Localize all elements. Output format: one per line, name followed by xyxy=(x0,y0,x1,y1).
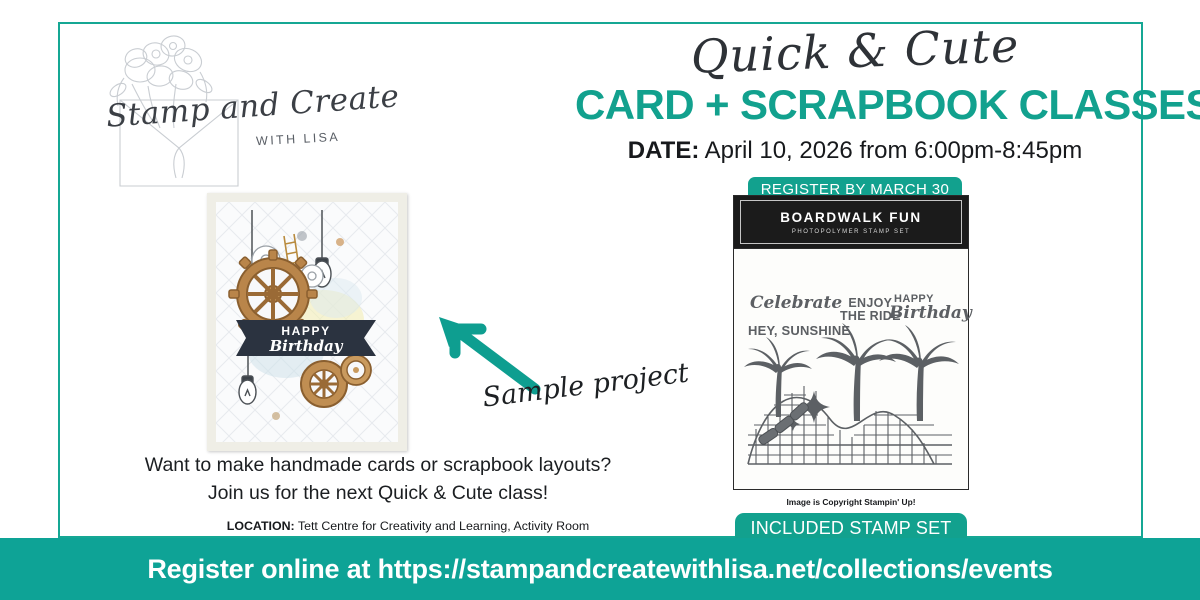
stamp-set-copyright: Image is Copyright Stampin' Up! xyxy=(733,497,969,507)
brand-logo: Stamp and Create WITH LISA xyxy=(88,28,348,188)
date-value: April 10, 2026 from 6:00pm-8:45pm xyxy=(699,137,1082,164)
poster-canvas: Stamp and Create WITH LISA Quick & Cute … xyxy=(0,0,1200,600)
page-title: CARD + SCRAPBOOK CLASSES xyxy=(575,84,1135,126)
stamp-set-graphics xyxy=(734,249,968,490)
blurb-line-1: Want to make handmade cards or scrapbook… xyxy=(58,452,698,480)
stamp-set-subtitle: PHOTOPOLYMER STAMP SET xyxy=(792,229,910,235)
location-line: LOCATION: Tett Centre for Creativity and… xyxy=(58,519,758,533)
svg-text:Birthday: Birthday xyxy=(268,337,343,355)
header-block: Quick & Cute CARD + SCRAPBOOK CLASSES DA… xyxy=(575,28,1135,203)
stamp-set-body: Celebrate HEY, SUNSHINE ENJOY THE RIDE H… xyxy=(734,249,968,490)
date-label: DATE: xyxy=(628,137,700,164)
stamp-set-panel: BOARDWALK FUN PHOTOPOLYMER STAMP SET Cel… xyxy=(733,195,969,545)
sample-project-image: HAPPY Birthday xyxy=(207,193,407,451)
location-value: Tett Centre for Creativity and Learning,… xyxy=(295,519,590,533)
event-date-line: DATE: April 10, 2026 from 6:00pm-8:45pm xyxy=(575,137,1135,165)
stamp-set-title: BOARDWALK FUN xyxy=(780,210,922,225)
promo-blurb: Want to make handmade cards or scrapbook… xyxy=(58,452,698,507)
svg-text:HAPPY: HAPPY xyxy=(281,324,330,338)
register-banner[interactable]: Register online at https://stampandcreat… xyxy=(0,538,1200,600)
register-banner-text: Register online at https://stampandcreat… xyxy=(147,554,1052,585)
location-label: LOCATION: xyxy=(227,519,295,533)
quick-and-cute-script: Quick & Cute xyxy=(574,18,1135,84)
stamp-set-image: BOARDWALK FUN PHOTOPOLYMER STAMP SET Cel… xyxy=(733,195,969,490)
birthday-card-artwork: HAPPY Birthday xyxy=(216,202,398,442)
blurb-line-2: Join us for the next Quick & Cute class! xyxy=(58,480,698,508)
stamp-set-header: BOARDWALK FUN PHOTOPOLYMER STAMP SET xyxy=(734,196,968,249)
